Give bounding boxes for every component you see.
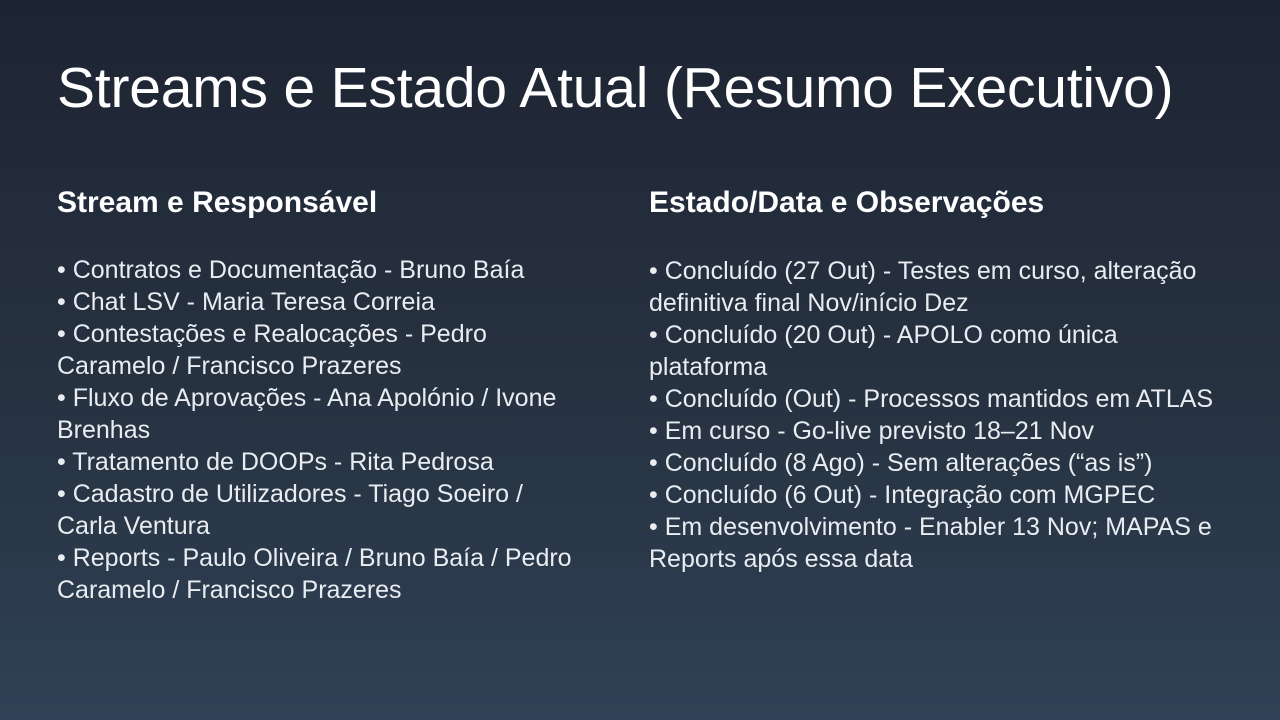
bullet-icon: • [57,448,66,476]
list-item-text: Cadastro de Utilizadores - Tiago Soeiro … [57,480,523,540]
list-item: • Contratos e Documentação - Bruno Baía [57,254,576,286]
bullet-icon: • [57,256,66,284]
bullet-icon: • [57,320,66,348]
list-item: • Concluído (20 Out) - APOLO como única … [649,319,1240,383]
list-item: • Reports - Paulo Oliveira / Bruno Baía … [57,542,576,606]
column-heading-right: Estado/Data e Observações [649,185,1240,222]
list-item-text: Contratos e Documentação - Bruno Baía [73,256,525,284]
list-item: • Cadastro de Utilizadores - Tiago Soeir… [57,478,576,542]
list-item-text: Tratamento de DOOPs - Rita Pedrosa [72,448,493,476]
list-item: • Em curso - Go-live previsto 18–21 Nov [649,415,1240,447]
list-item-text: Concluído (6 Out) - Integração com MGPEC [665,481,1155,509]
list-item-text: Em curso - Go-live previsto 18–21 Nov [665,417,1094,445]
bullet-icon: • [57,480,66,508]
list-item-text: Em desenvolvimento - Enabler 13 Nov; MAP… [649,513,1212,573]
list-item-text: Contestações e Realocações - Pedro Caram… [57,320,487,380]
list-item-text: Fluxo de Aprovações - Ana Apolónio / Ivo… [57,384,556,444]
slide-canvas: Streams e Estado Atual (Resumo Executivo… [0,0,1280,720]
list-item: • Concluído (27 Out) - Testes em curso, … [649,255,1240,319]
bullet-icon: • [649,385,658,413]
list-item: • Concluído (Out) - Processos mantidos e… [649,383,1240,415]
list-item-text: Reports - Paulo Oliveira / Bruno Baía / … [57,544,572,604]
list-item: • Chat LSV - Maria Teresa Correia [57,286,576,318]
list-item: • Concluído (6 Out) - Integração com MGP… [649,479,1240,511]
list-item-text: Chat LSV - Maria Teresa Correia [73,288,435,316]
list-item-text: Concluído (20 Out) - APOLO como única pl… [649,321,1118,381]
bullet-icon: • [57,288,66,316]
bullet-icon: • [649,481,658,509]
list-item: • Contestações e Realocações - Pedro Car… [57,318,576,382]
bullet-icon: • [649,417,658,445]
bullet-icon: • [57,544,66,572]
page-title: Streams e Estado Atual (Resumo Executivo… [57,55,1227,122]
bullet-icon: • [649,449,658,477]
bullet-icon: • [649,257,658,285]
list-item: • Concluído (8 Ago) - Sem alterações (“a… [649,447,1240,479]
list-item-text: Concluído (27 Out) - Testes em curso, al… [649,257,1196,317]
bullet-icon: • [649,513,658,541]
list-item: • Em desenvolvimento - Enabler 13 Nov; M… [649,511,1240,575]
bullet-list-right: • Concluído (27 Out) - Testes em curso, … [649,255,1240,575]
bullet-icon: • [57,384,66,412]
column-estado-observacoes: Estado/Data e Observações • Concluído (2… [596,185,1280,575]
column-heading-left: Stream e Responsável [57,185,576,222]
bullet-list-left: • Contratos e Documentação - Bruno Baía … [57,254,576,606]
list-item-text: Concluído (8 Ago) - Sem alterações (“as … [665,449,1153,477]
content-columns: Stream e Responsável • Contratos e Docum… [0,185,1280,606]
column-stream-responsavel: Stream e Responsável • Contratos e Docum… [0,185,596,606]
bullet-icon: • [649,321,658,349]
list-item-text: Concluído (Out) - Processos mantidos em … [665,385,1213,413]
list-item: • Tratamento de DOOPs - Rita Pedrosa [57,446,576,478]
list-item: • Fluxo de Aprovações - Ana Apolónio / I… [57,382,576,446]
